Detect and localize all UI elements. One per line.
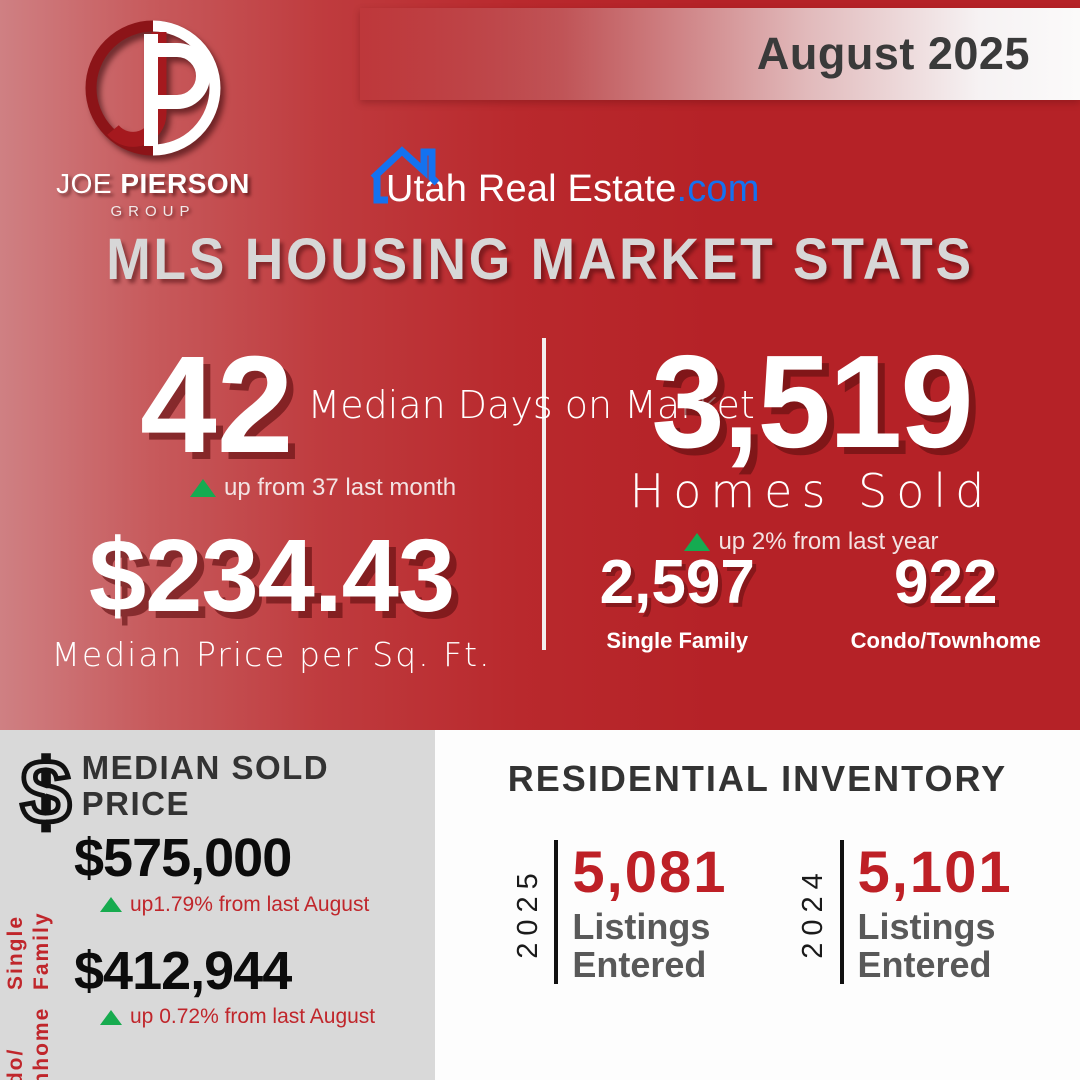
listings-label-line1-2024: Listings [858,908,1013,946]
up-triangle-icon [100,1010,122,1025]
up-triangle-icon [190,479,216,497]
residential-inventory-title: RESIDENTIAL INVENTORY [435,758,1080,800]
label-family: Family [30,911,54,990]
median-sold-price-panel: $ MEDIAN SOLD PRICE Single Family Condo/… [0,730,435,1080]
top-red-panel: August 2025 JOE PIERSON GROUP [0,0,1080,730]
brand-name-first: JOE [56,168,120,199]
inventory-column-2025: 2025 5,081 Listings Entered [502,840,727,984]
residential-inventory-columns: 2025 5,081 Listings Entered 2024 5,10 [435,840,1080,984]
brand-group-label: GROUP [38,203,268,220]
median-sold-price-values: $575,000 up1.79% from last August $412,9… [74,830,426,1029]
single-family-label: Single Family [543,628,812,654]
median-ppsf-label: Median Price per Sq. Ft. [0,635,543,674]
breakdown-single-family: 2,597 Single Family [543,552,812,654]
single-family-value: 2,597 [543,552,812,614]
median-days-delta: up from 37 last month [190,474,456,502]
page-title: MLS HOUSING MARKET STATS [43,226,1037,293]
msp-row-single-family: $575,000 up1.79% from last August [74,830,426,917]
median-sold-price-header: $ MEDIAN SOLD PRICE [14,746,435,838]
listings-value-2024: 5,101 [858,844,1013,902]
year-label-2025: 2025 [512,866,545,959]
label-single: Single [4,915,28,990]
house-outline-icon [368,142,442,204]
listings-label-line1-2025: Listings [572,908,727,946]
median-days-value: 42 [140,340,294,471]
listings-value-2025: 5,081 [572,844,727,902]
brand-name: JOE PIERSON [38,168,268,200]
svg-text:$: $ [21,746,71,838]
median-days-delta-text: up from 37 last month [224,474,456,502]
listings-label-2024: Listings Entered [858,908,1013,984]
single-family-price-delta: up1.79% from last August [100,893,426,917]
listings-label-line2-2024: Entered [858,946,1013,984]
homes-sold-value: 3,519 [543,336,1080,468]
column-divider-bar [840,840,844,984]
year-label-wrap-2025: 2025 [502,840,554,984]
infographic-root: August 2025 JOE PIERSON GROUP [0,0,1080,1080]
dollar-sign-icon: $ [14,746,78,838]
stat-homes-sold: 3,519 Homes Sold up 2% from last year [543,336,1080,556]
condo-townhome-price-delta: up 0.72% from last August [100,1005,426,1029]
category-labels: Single Family Condo/ Townhome [4,838,66,1068]
breakdown-condo-townhome: 922 Condo/Townhome [812,552,1080,654]
single-family-price: $575,000 [74,830,426,887]
inventory-column-2024: 2024 5,101 Listings Entered [788,840,1013,984]
year-label-2024: 2024 [797,866,830,959]
inventory-body-2025: 5,081 Listings Entered [572,840,727,984]
homes-sold-label: Homes Sold [543,464,1080,518]
listings-label-2025: Listings Entered [572,908,727,984]
condo-townhome-label: Condo/Townhome [812,628,1080,654]
condo-townhome-value: 922 [812,552,1080,614]
label-townhome: Townhome [30,1007,54,1080]
msp-row-condo-townhome: $412,944 up 0.72% from last August [74,943,426,1030]
column-divider-bar [554,840,558,984]
listings-label-line2-2025: Entered [572,946,727,984]
partner-dotcom: .com [676,168,759,210]
residential-inventory-panel: RESIDENTIAL INVENTORY 2025 5,081 Listing… [435,730,1080,1080]
median-ppsf-value: $234.43 [0,524,543,627]
company-logo: JOE PIERSON GROUP [38,18,268,220]
label-condo: Condo/ [4,1048,28,1080]
brand-name-last: PIERSON [120,168,250,199]
condo-townhome-price: $412,944 [74,943,426,1000]
partner-logo: Utah Real Estate.com [370,148,760,208]
median-sold-price-title: MEDIAN SOLD PRICE [82,746,435,821]
inventory-body-2024: 5,101 Listings Entered [858,840,1013,984]
year-label-wrap-2024: 2024 [788,840,840,984]
report-date: August 2025 [757,28,1080,80]
up-triangle-icon [100,897,122,912]
stat-median-price-per-sqft: $234.43 Median Price per Sq. Ft. [0,524,543,674]
date-banner: August 2025 [360,8,1080,100]
condo-townhome-delta-text: up 0.72% from last August [130,1005,375,1029]
jp-monogram-logo [73,18,233,166]
single-family-delta-text: up1.79% from last August [130,893,369,917]
homes-sold-breakdown: 2,597 Single Family 922 Condo/Townhome [543,552,1080,654]
